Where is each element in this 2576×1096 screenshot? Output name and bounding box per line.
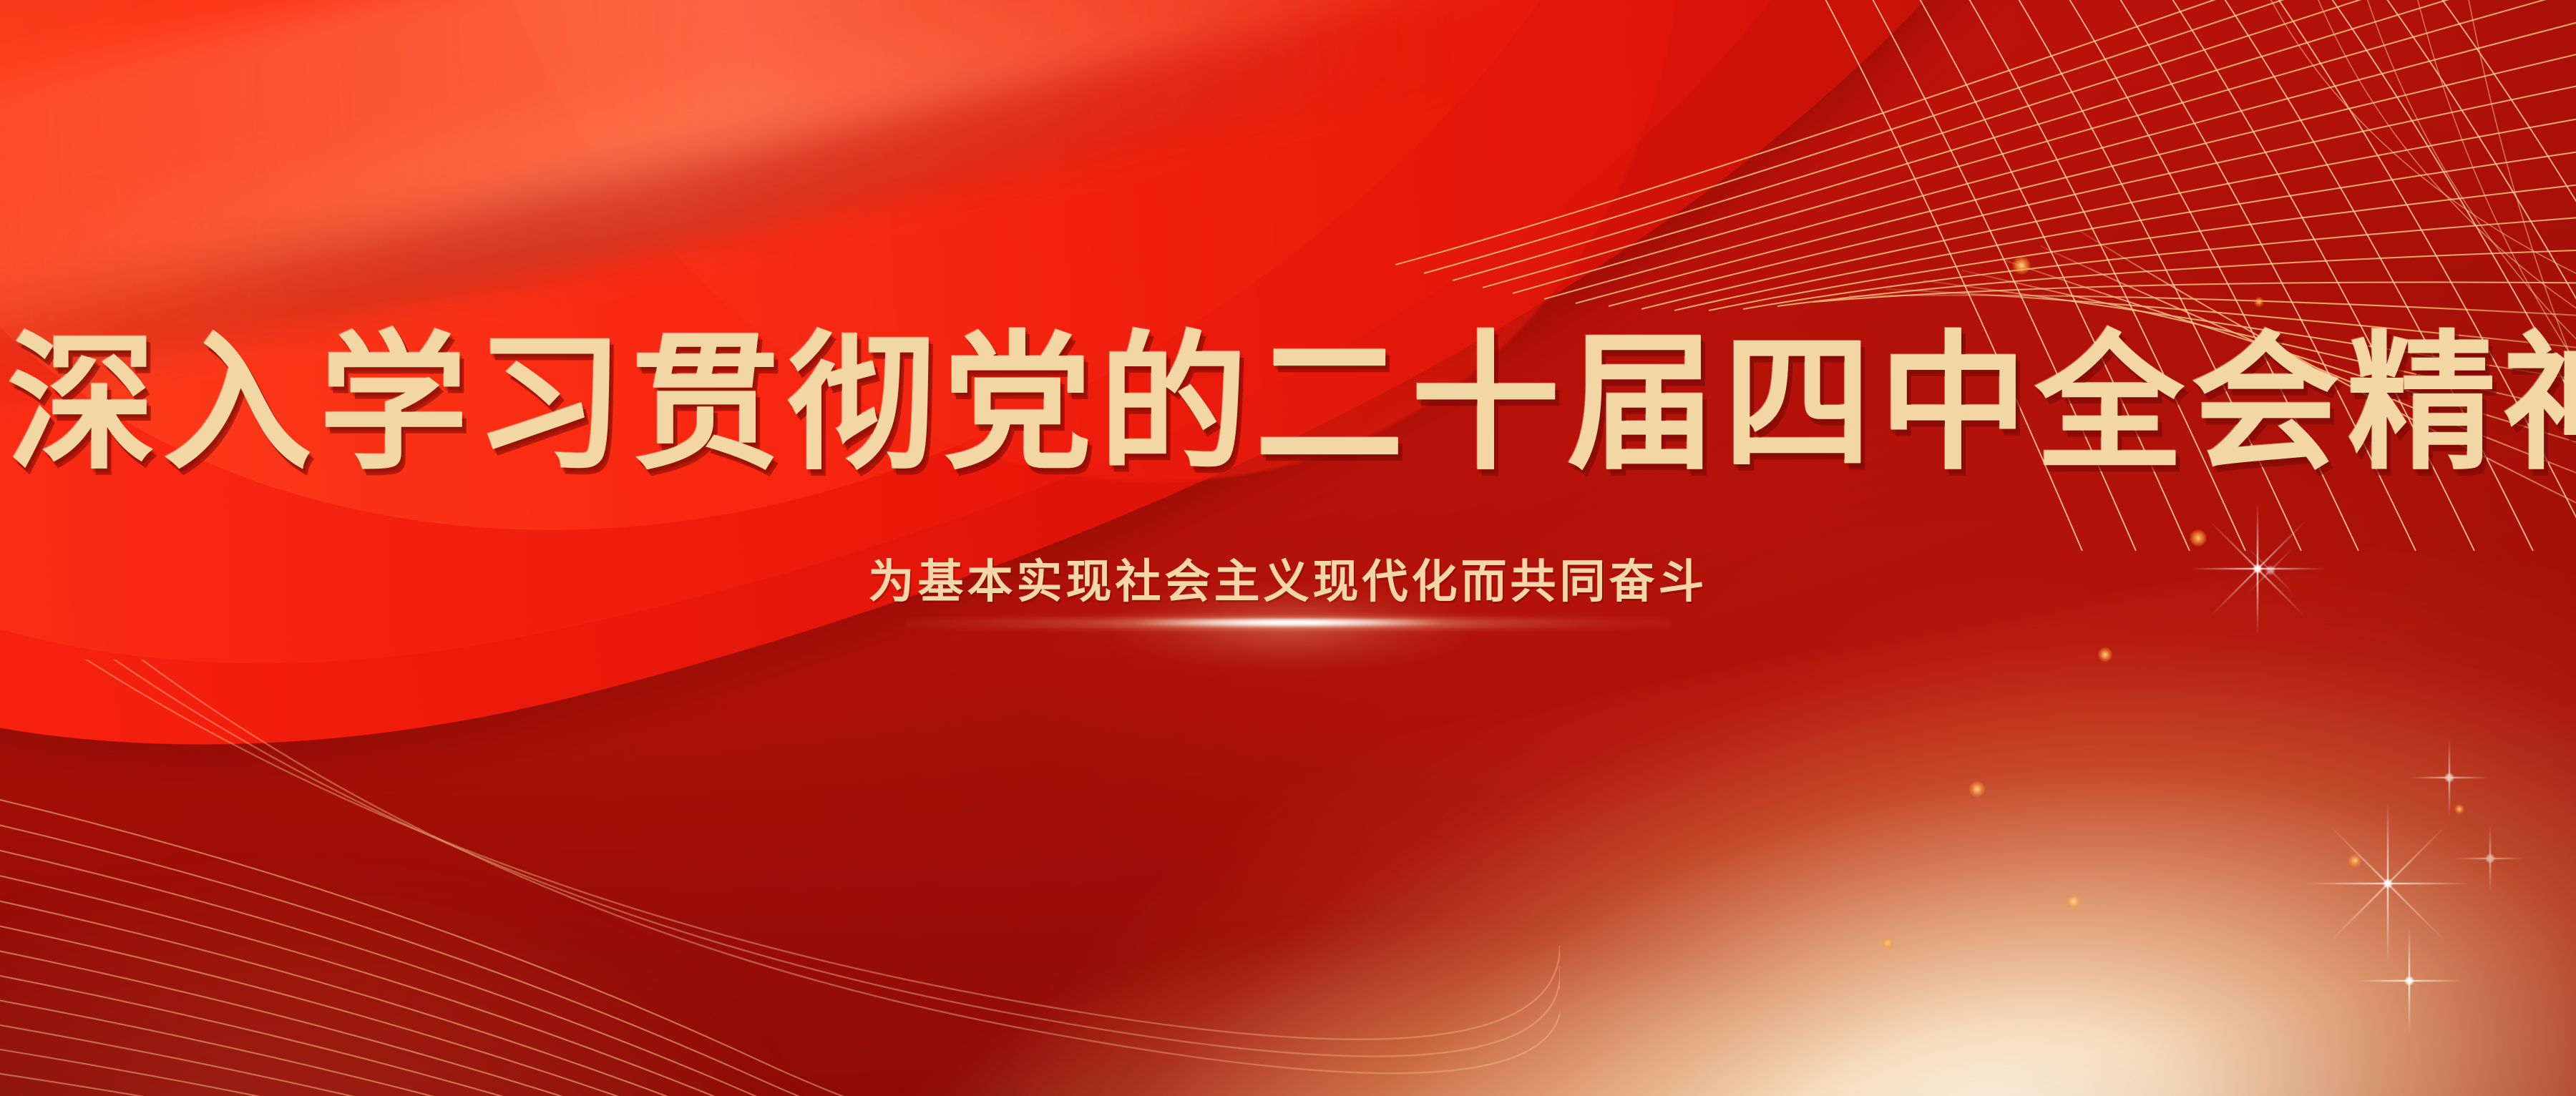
sparkle-star-icon	[2356, 927, 2463, 1034]
divider-light-core	[1134, 620, 1442, 625]
subtitle-group: 为基本实现社会主义现代化而共同奋斗	[0, 545, 2576, 652]
bokeh-particle	[1882, 937, 1893, 949]
sparkle-star-icon	[2456, 824, 2524, 893]
glow-bottom-left	[0, 860, 816, 1096]
bokeh-particle	[2012, 256, 2031, 275]
text-block: 深入学习贯彻党的二十届四中全会精神 为基本实现社会主义现代化而共同奋斗	[0, 331, 2576, 652]
sparkle-star-icon	[2410, 738, 2489, 817]
bokeh-particle	[1969, 781, 1985, 797]
page-title: 深入学习贯彻党的二十届四中全会精神	[0, 331, 2576, 479]
bokeh-particle	[2067, 894, 2081, 909]
poster-canvas: 深入学习贯彻党的二十届四中全会精神 为基本实现社会主义现代化而共同奋斗	[0, 0, 2576, 1096]
bokeh-particle	[2254, 297, 2264, 307]
